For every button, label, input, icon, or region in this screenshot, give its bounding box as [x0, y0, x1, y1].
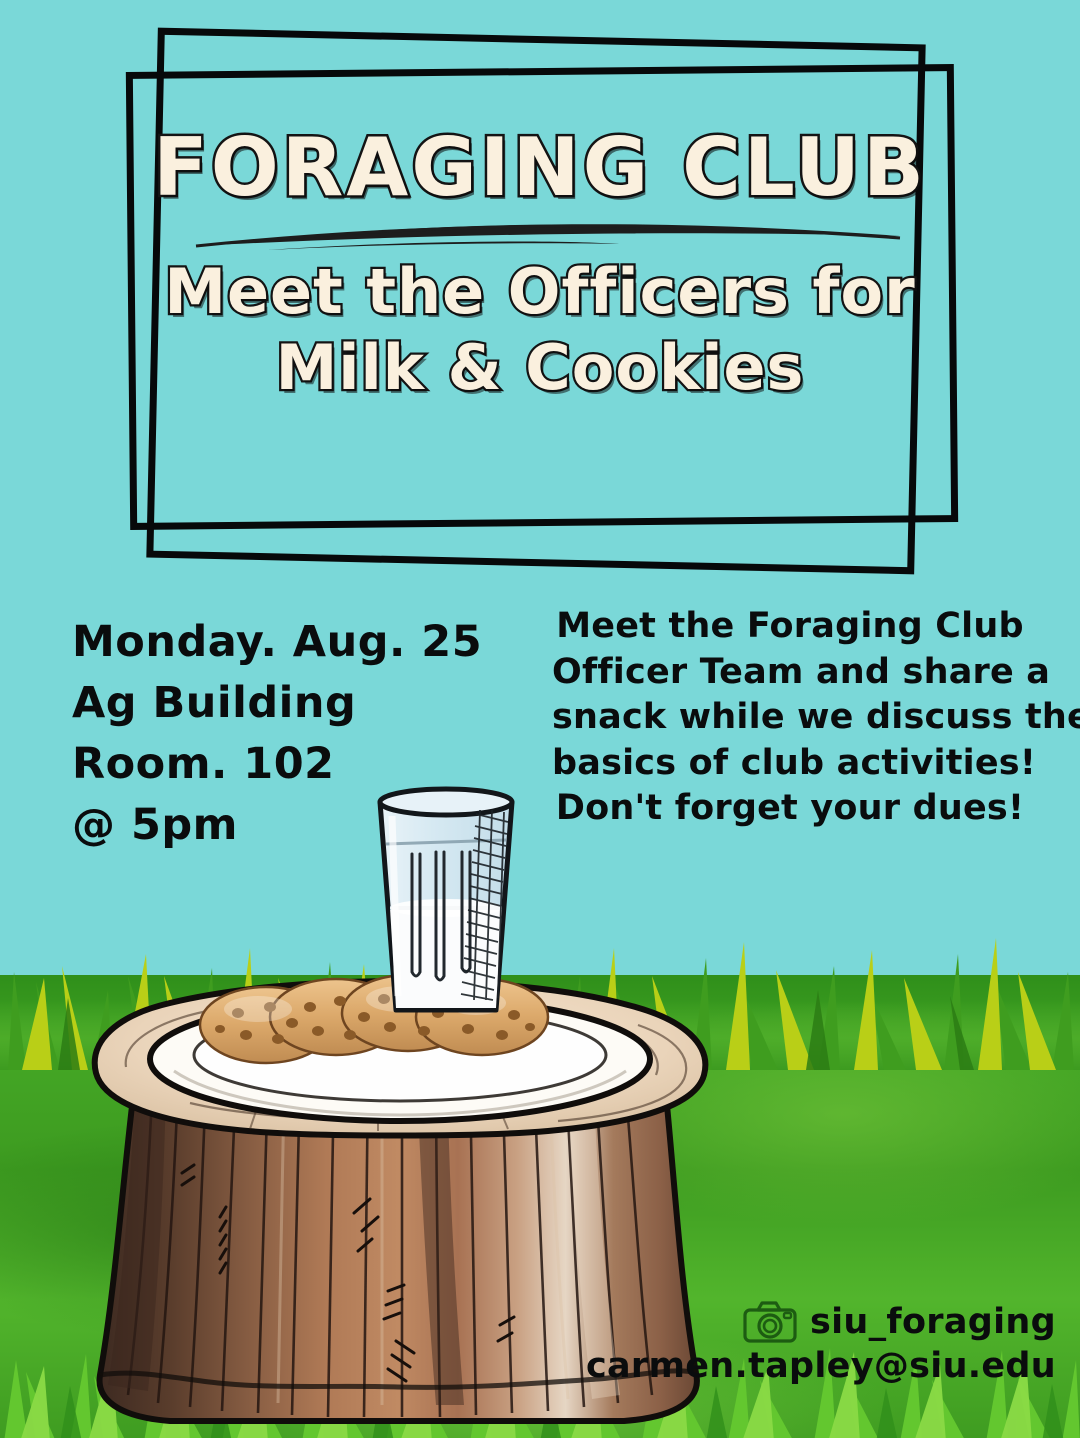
description-line-1: Meet the Foraging Club [552, 604, 1028, 650]
contact-block: siu_foraging carmen.tapley@siu.edu [586, 1300, 1056, 1386]
event-description: Meet the Foraging Club Officer Team and … [552, 604, 1028, 832]
description-line-2: Officer Team and share a [552, 650, 1028, 696]
contact-email[interactable]: carmen.tapley@siu.edu [586, 1346, 1056, 1386]
swoosh-underline-icon [0, 212, 1080, 252]
page-title: FORAGING CLUB [0, 128, 1080, 208]
subtitle-line-2: Milk & Cookies [0, 330, 1080, 406]
title-block: FORAGING CLUB Meet the Officers for Milk… [0, 128, 1080, 405]
event-time: @ 5pm [72, 795, 502, 856]
event-details: Monday. Aug. 25 Ag Building Room. 102 @ … [72, 612, 502, 856]
title-divider [0, 212, 1080, 252]
description-line-3: snack while we discuss the [552, 695, 1028, 741]
page-subtitle: Meet the Officers for Milk & Cookies [0, 254, 1080, 405]
event-building: Ag Building [72, 673, 502, 734]
event-room: Room. 102 [72, 734, 502, 795]
camera-icon [742, 1300, 798, 1344]
description-line-4: basics of club activities! [552, 741, 1028, 787]
subtitle-line-1: Meet the Officers for [0, 254, 1080, 330]
instagram-handle[interactable]: siu_foraging [810, 1302, 1056, 1342]
poster-canvas: FORAGING CLUB Meet the Officers for Milk… [0, 0, 1080, 1438]
event-date: Monday. Aug. 25 [72, 612, 502, 673]
description-line-5: Don't forget your dues! [552, 786, 1028, 832]
social-handle-row[interactable]: siu_foraging [586, 1300, 1056, 1344]
